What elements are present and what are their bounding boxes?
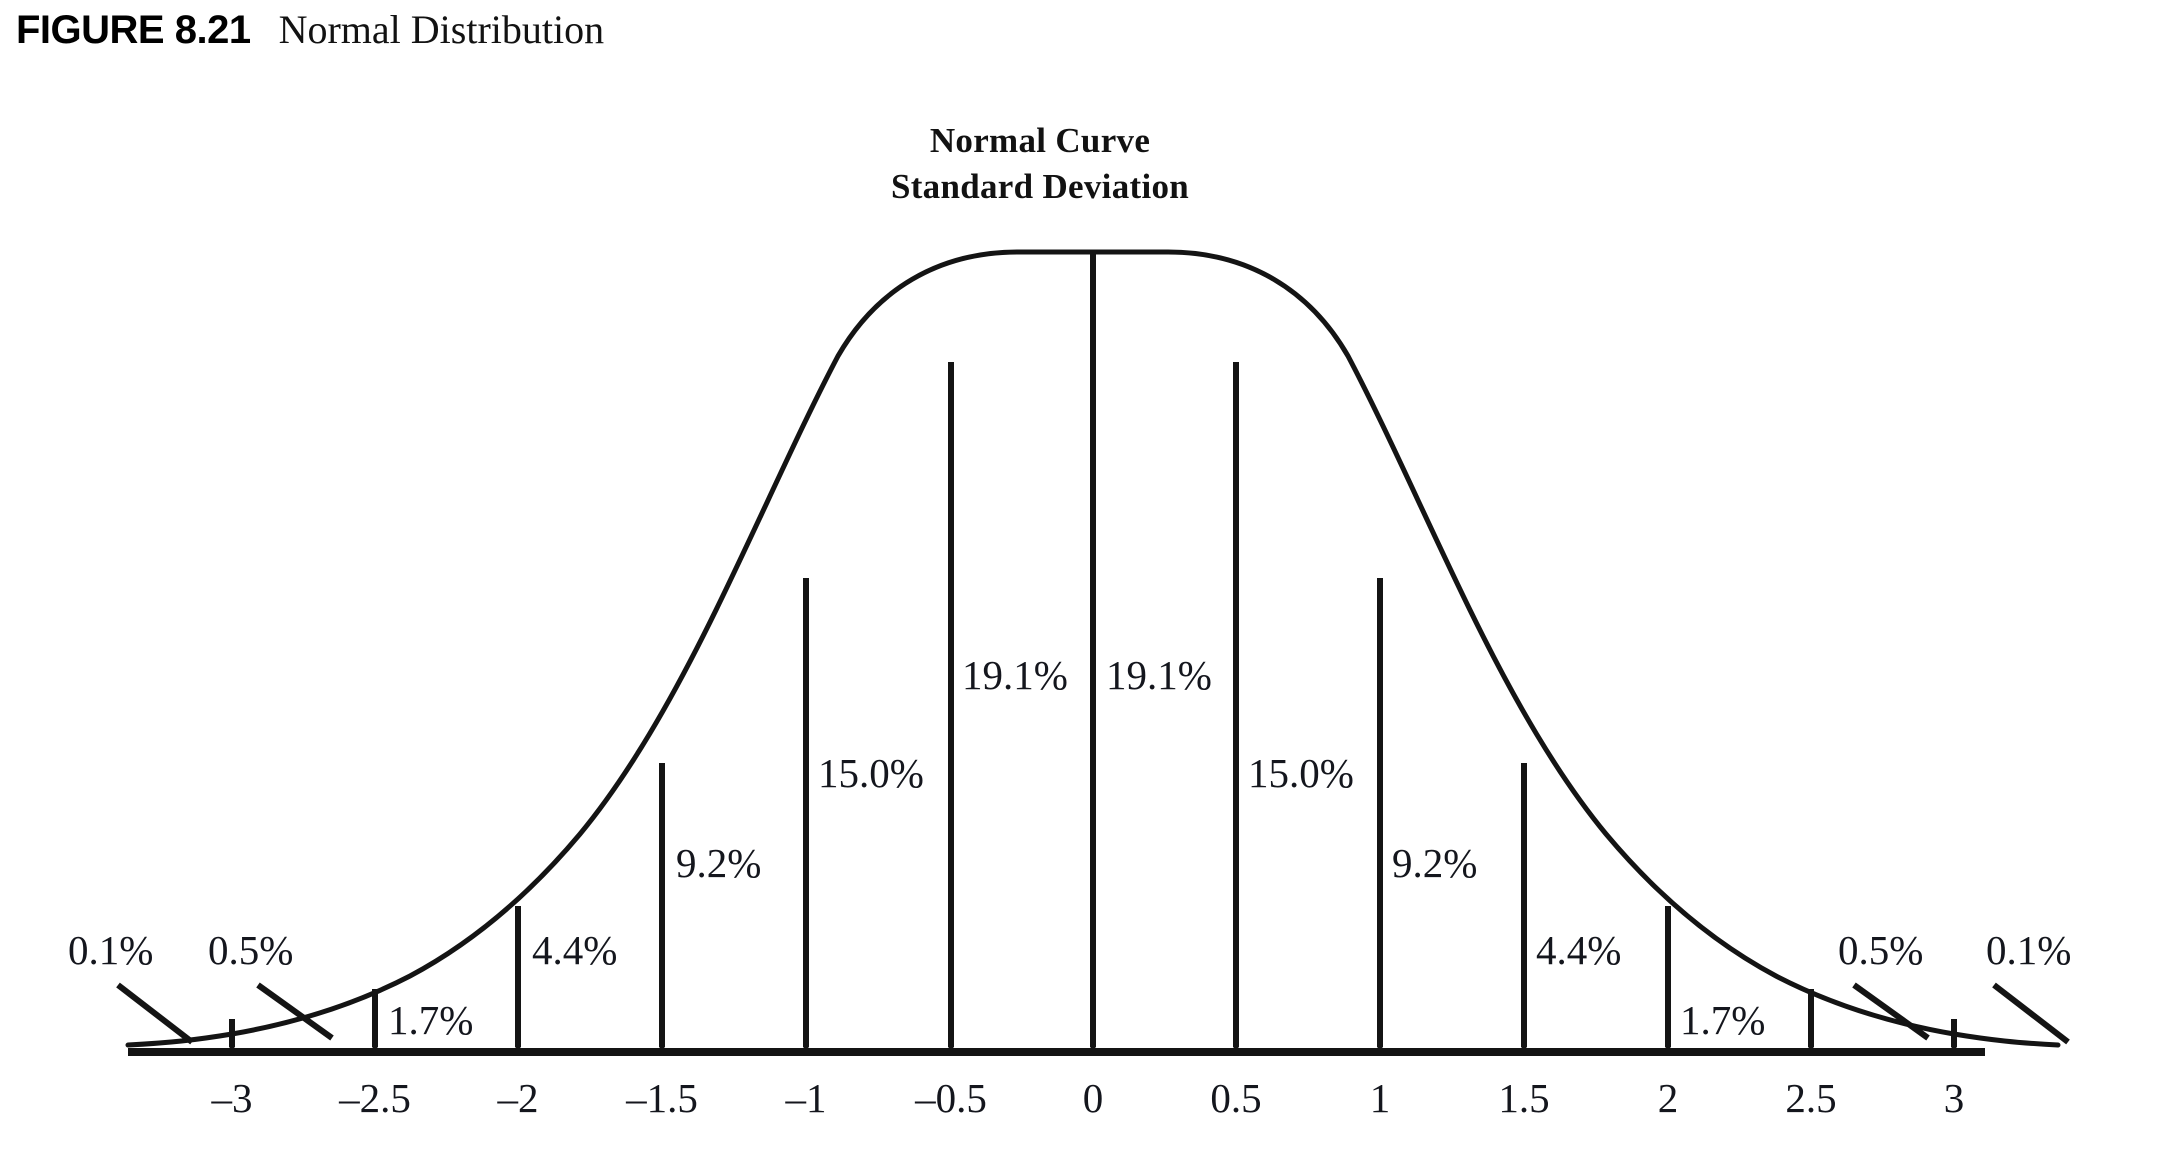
tick-label-plus-1-5: 1.5 <box>1498 1078 1549 1119</box>
pct-label-left-tail-inner: 0.5% <box>208 930 293 971</box>
tick-label-minus-2-5: –2.5 <box>339 1078 411 1119</box>
tick-label-zero: 0 <box>1083 1078 1104 1119</box>
pct-label-left-4-4: 4.4% <box>532 930 617 971</box>
tick-label-plus-1: 1 <box>1370 1078 1391 1119</box>
leader-line-left-outer <box>118 985 192 1042</box>
leader-line-right-outer <box>1994 985 2068 1042</box>
tick-label-plus-2: 2 <box>1658 1078 1679 1119</box>
pct-label-left-19-1: 19.1% <box>962 655 1068 696</box>
pct-label-left-9-2: 9.2% <box>676 843 761 884</box>
pct-label-left-15-0: 15.0% <box>818 753 924 794</box>
tick-label-minus-1: –1 <box>786 1078 827 1119</box>
pct-label-right-4-4: 4.4% <box>1536 930 1621 971</box>
tick-label-minus-3: –3 <box>212 1078 253 1119</box>
tick-label-minus-0-5: –0.5 <box>915 1078 987 1119</box>
normal-distribution-plot <box>0 0 2180 1160</box>
pct-label-left-1-7: 1.7% <box>388 1000 473 1041</box>
pct-label-right-9-2: 9.2% <box>1392 843 1477 884</box>
pct-label-right-15-0: 15.0% <box>1248 753 1354 794</box>
pct-label-right-1-7: 1.7% <box>1680 1000 1765 1041</box>
pct-label-right-tail-outer: 0.1% <box>1986 930 2071 971</box>
tick-label-plus-2-5: 2.5 <box>1785 1078 1836 1119</box>
pct-label-right-tail-inner: 0.5% <box>1838 930 1923 971</box>
tick-label-minus-2: –2 <box>498 1078 539 1119</box>
tick-label-plus-0-5: 0.5 <box>1210 1078 1261 1119</box>
tick-label-plus-3: 3 <box>1944 1078 1965 1119</box>
pct-label-right-19-1: 19.1% <box>1106 655 1212 696</box>
tick-label-minus-1-5: –1.5 <box>626 1078 698 1119</box>
pct-label-left-tail-outer: 0.1% <box>68 930 153 971</box>
